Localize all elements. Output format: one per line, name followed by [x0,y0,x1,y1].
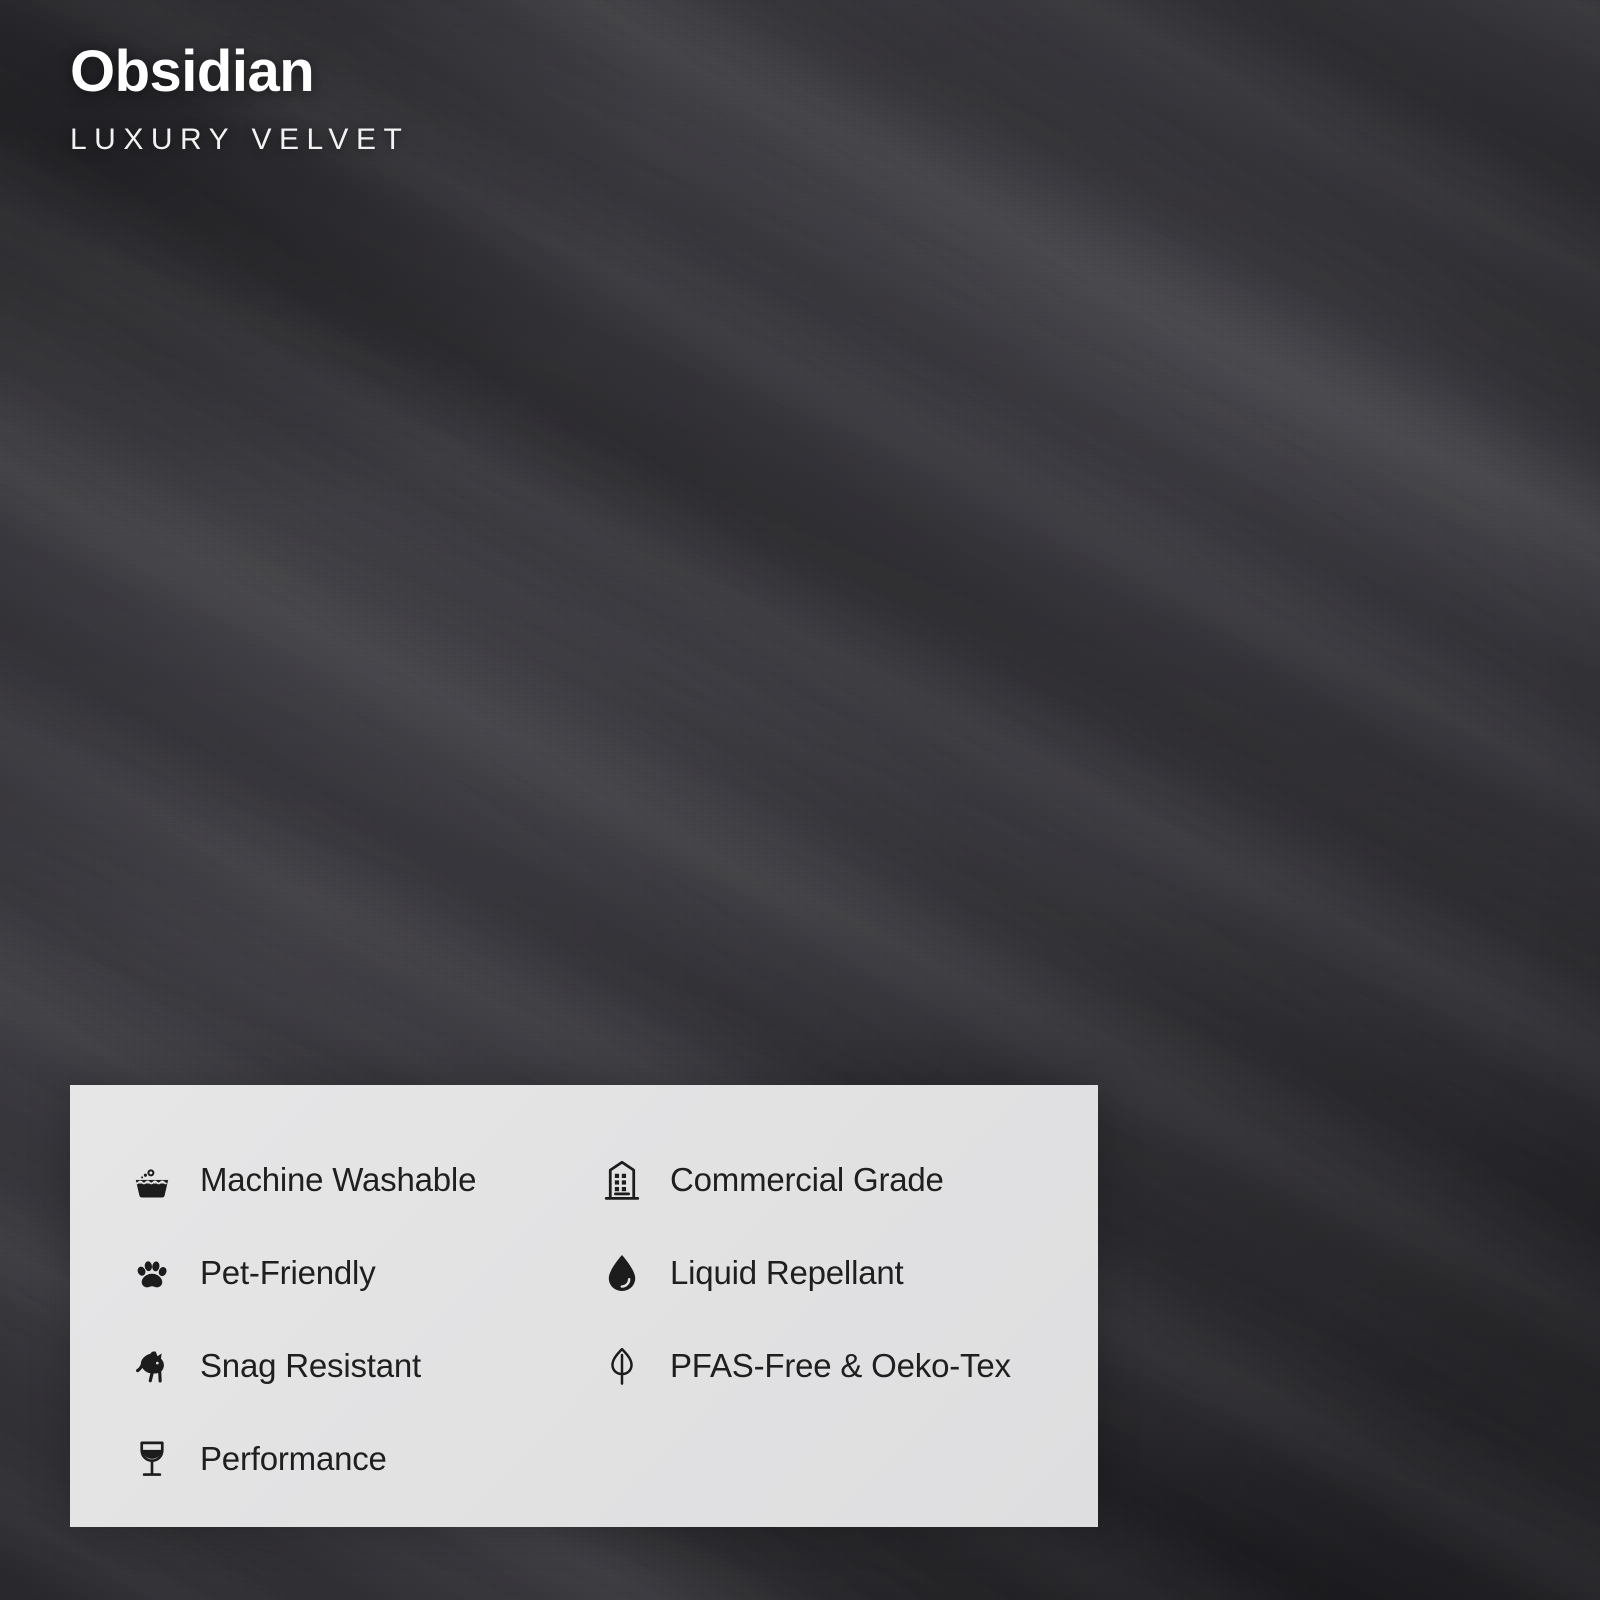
feature-grid: Machine Washable [70,1133,1098,1505]
feature-label: Liquid Repellant [670,1254,903,1292]
water-droplet-icon [600,1251,670,1295]
wine-glass-icon [130,1437,200,1481]
feature-item-liquid-repellant: Liquid Repellant [600,1226,1070,1319]
feature-label: Performance [200,1440,387,1478]
feature-item-pet-friendly: Pet-Friendly [130,1226,600,1319]
feature-label: Commercial Grade [670,1161,944,1199]
feature-item-machine-washable: Machine Washable [130,1133,600,1226]
product-title: Obsidian [70,42,409,103]
paw-print-icon [130,1251,200,1295]
fabric-swatch-card: Obsidian LUXURY VELVET Machine Washable [0,0,1600,1600]
wash-tub-icon [130,1158,200,1202]
product-subtitle: LUXURY VELVET [70,123,409,157]
feature-label: Pet-Friendly [200,1254,376,1292]
product-header: Obsidian LUXURY VELVET [70,42,409,157]
feature-label: Machine Washable [200,1161,476,1199]
feature-item-performance: Performance [130,1412,600,1505]
cat-icon [130,1344,200,1388]
feature-label: Snag Resistant [200,1347,421,1385]
feature-item-snag-resistant: Snag Resistant [130,1319,600,1412]
feature-label: PFAS-Free & Oeko-Tex [670,1347,1011,1385]
feature-item-pfas-free-oeko-tex: PFAS-Free & Oeko-Tex [600,1319,1070,1412]
feature-panel: Machine Washable [70,1085,1098,1527]
feature-grid-empty-cell [600,1412,1070,1505]
feature-item-commercial-grade: Commercial Grade [600,1133,1070,1226]
building-icon [600,1158,670,1202]
leaf-icon [600,1344,670,1388]
